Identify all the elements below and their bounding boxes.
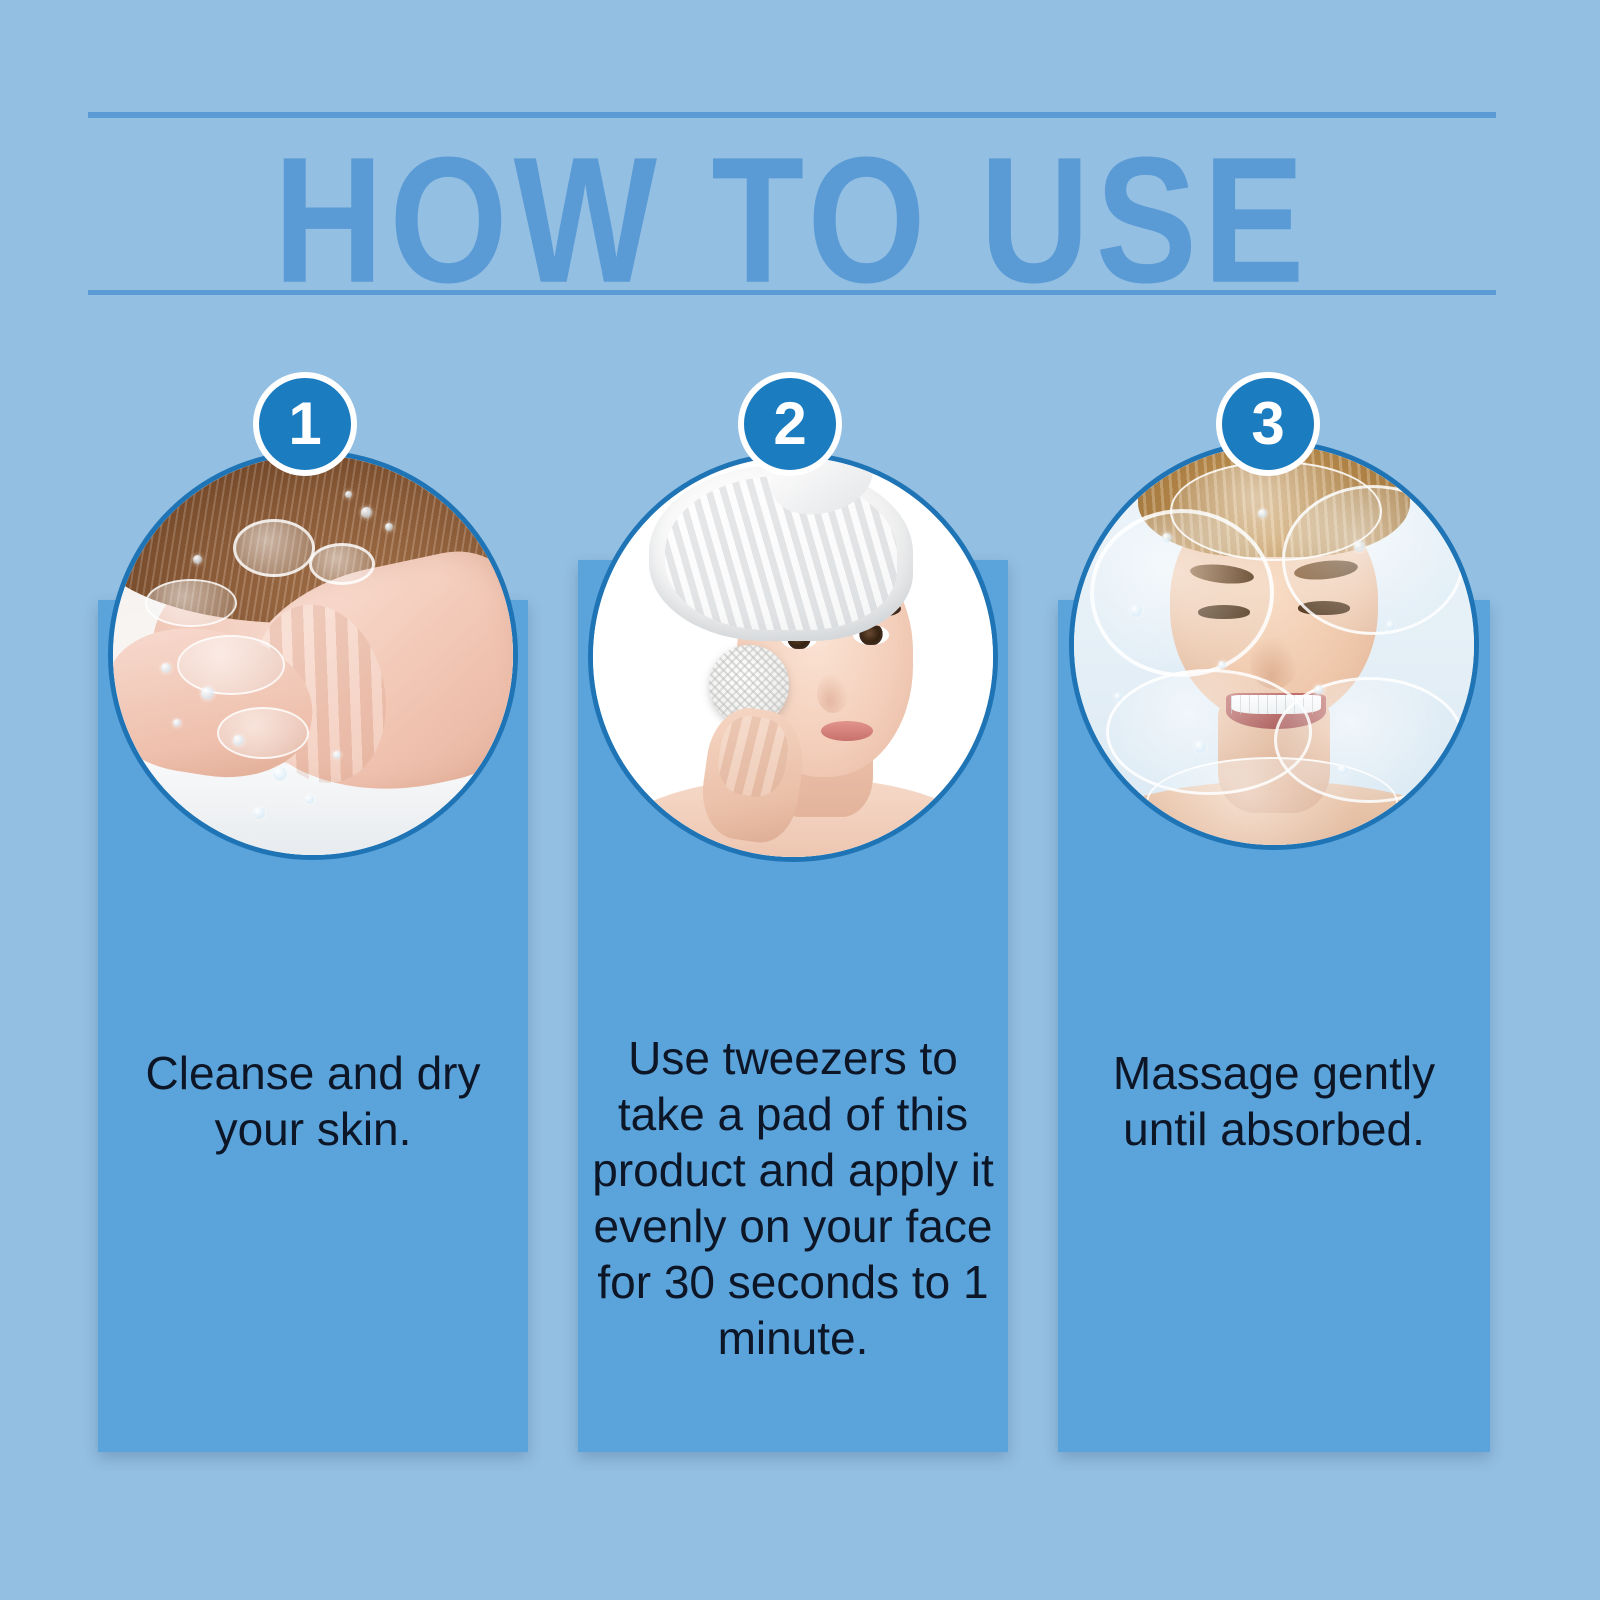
step-number-badge-1: 1 [253, 372, 357, 476]
step-number-badge-3: 3 [1216, 372, 1320, 476]
step-image-wrap-3 [1058, 440, 1490, 850]
step-number-badge-2: 2 [738, 372, 842, 476]
step-caption-2: Use tweezers to take a pad of this produ… [578, 1030, 1008, 1366]
step-caption-3: Massage gently until absorbed. [1058, 1045, 1490, 1157]
face-washing-photo-icon [108, 450, 518, 860]
cotton-pad-photo-icon [588, 452, 998, 862]
step-image-wrap-1 [98, 450, 528, 860]
steps-container: 1 Cleanse and dry your skin. [0, 0, 1600, 1600]
step-caption-1: Cleanse and dry your skin. [98, 1045, 528, 1157]
water-splash-photo-icon [1069, 440, 1479, 850]
step-image-wrap-2 [578, 452, 1008, 862]
